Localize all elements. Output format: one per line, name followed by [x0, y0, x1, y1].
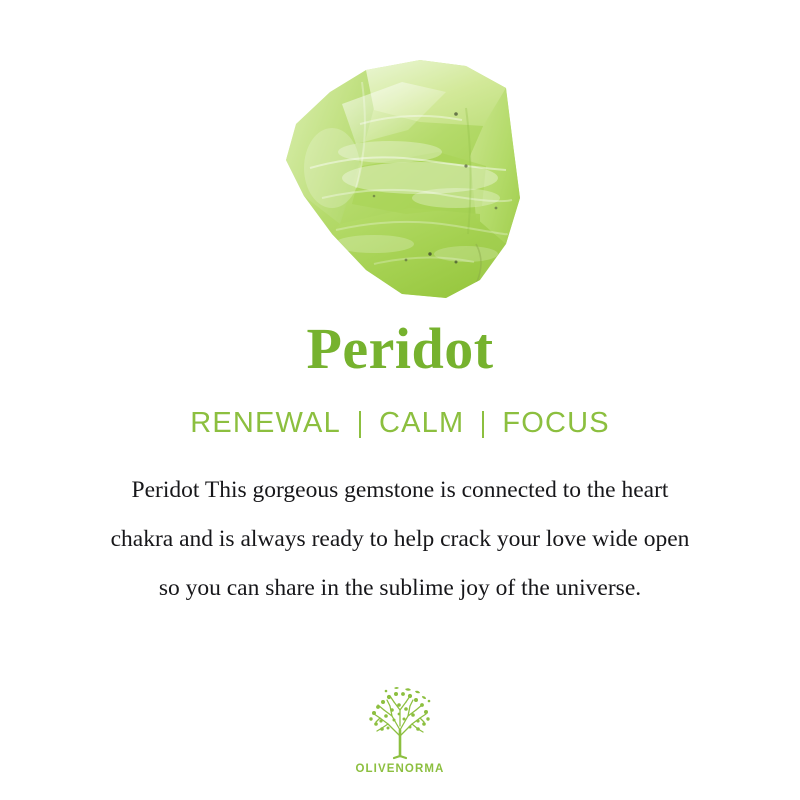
tree-icon — [358, 686, 442, 760]
keyword-separator-icon — [482, 411, 484, 438]
peridot-gemstone-icon — [270, 48, 530, 306]
keyword-separator-icon — [359, 411, 361, 438]
page-title: Peridot — [306, 318, 493, 384]
product-info-card: Peridot RENEWAL CALM FOCUS Peridot This … — [0, 0, 800, 800]
description-line: chakra and is always ready to help crack… — [20, 515, 780, 564]
brand-logo: OLIVENORMA — [0, 686, 800, 775]
keyword-focus: FOCUS — [500, 406, 612, 440]
peridot-gemstone-image — [270, 48, 530, 306]
description-paragraph: Peridot This gorgeous gemstone is connec… — [20, 466, 780, 613]
description-line: Peridot This gorgeous gemstone is connec… — [20, 466, 780, 515]
keyword-renewal: RENEWAL — [188, 406, 343, 440]
keyword-row: RENEWAL CALM FOCUS — [188, 406, 612, 440]
description-line: so you can share in the sublime joy of t… — [20, 564, 780, 613]
brand-wordmark: OLIVENORMA — [356, 763, 445, 775]
hero-image-area — [0, 0, 800, 318]
keyword-calm: CALM — [377, 406, 466, 440]
